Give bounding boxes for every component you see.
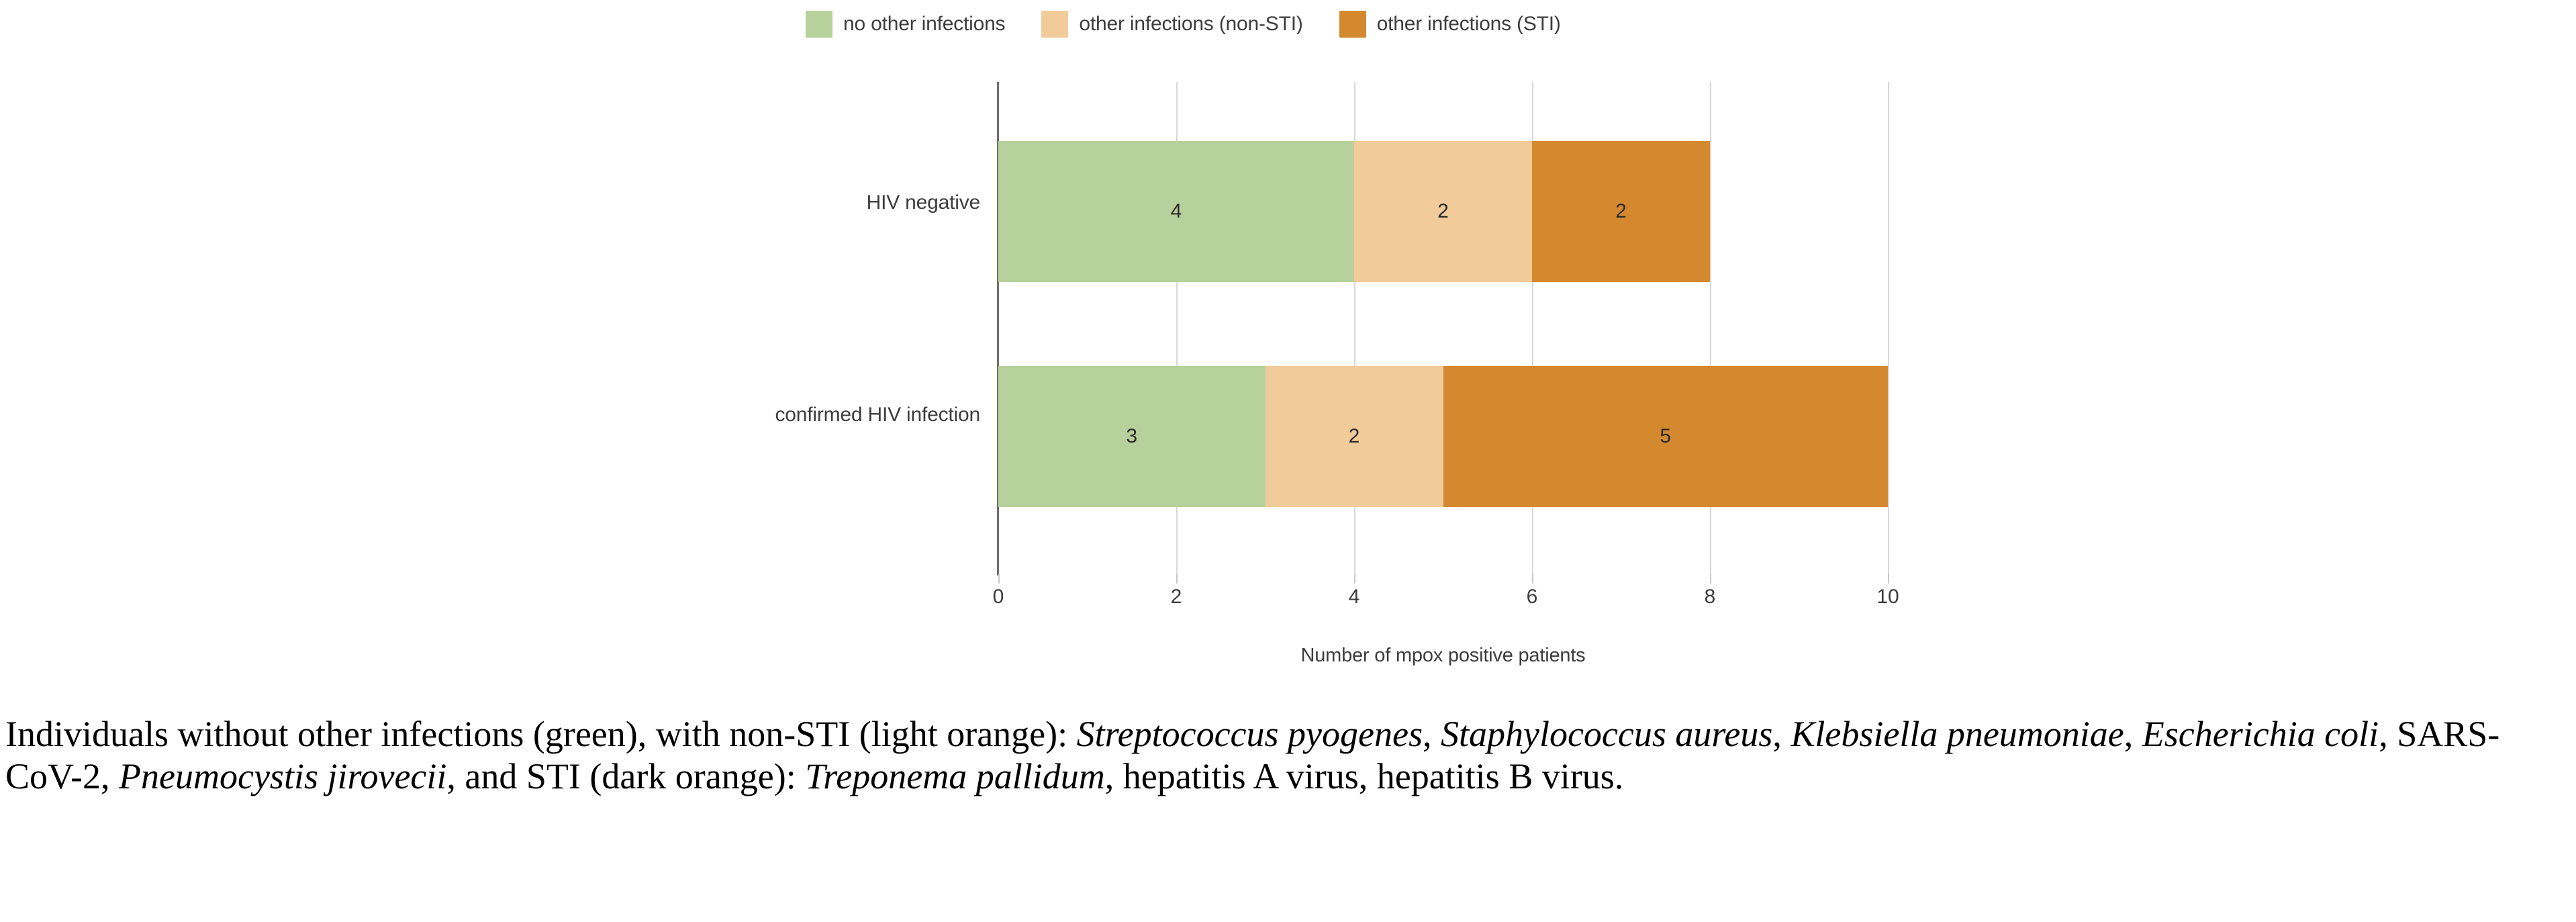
x-tick-label-8: 8 [1670, 586, 1750, 608]
legend-swatch-no-other-infections-icon [806, 11, 832, 38]
x-tick-label-2: 2 [1136, 586, 1217, 608]
plot-area: 422325 [998, 82, 1888, 574]
bar-value-label: 4 [1171, 201, 1182, 222]
bar-row: 325 [998, 366, 1888, 507]
caption-segment: , [2124, 714, 2142, 754]
bar-value-label: 2 [1615, 201, 1627, 222]
x-tick-label-10: 10 [1848, 586, 1928, 608]
legend-label-other-infections-non-sti: other infections (non-STI) [1079, 13, 1302, 36]
caption-segment: , [1772, 714, 1791, 754]
x-tick-mark-2 [1176, 574, 1178, 584]
bar-segment[interactable]: 2 [1532, 141, 1710, 282]
caption-segment: , and STI (dark orange): [446, 756, 805, 796]
bar-segment[interactable]: 2 [1266, 366, 1443, 507]
bar-value-label: 3 [1126, 426, 1137, 447]
caption-segment: , hepatitis A virus, hepatitis B virus. [1105, 756, 1623, 796]
legend-label-no-other-infections: no other infections [843, 13, 1005, 36]
bar-segment[interactable]: 2 [1354, 141, 1532, 282]
caption-segment: Individuals without other infections (gr… [5, 714, 1077, 754]
caption-segment: , [1423, 714, 1441, 754]
x-tick-label-0: 0 [958, 586, 1039, 608]
caption-segment: Escherichia coli [2142, 714, 2379, 754]
bar-segment[interactable]: 5 [1443, 366, 1889, 507]
y-axis-label-confirmed-hiv-infection: confirmed HIV infection [759, 402, 980, 428]
caption-segment: Treponema pallidum [805, 756, 1105, 796]
bar-row: 422 [998, 141, 1710, 282]
bar-segment[interactable]: 4 [998, 141, 1354, 282]
bar-segment[interactable]: 3 [998, 366, 1266, 507]
legend-swatch-other-infections-sti-icon [1339, 11, 1366, 38]
x-tick-label-6: 6 [1492, 586, 1572, 608]
bar-value-label: 5 [1660, 426, 1671, 447]
legend-item-no-other-infections[interactable]: no other infections [806, 11, 1005, 38]
figure-caption: Individuals without other infections (gr… [5, 713, 2570, 798]
x-tick-mark-10 [1888, 574, 1889, 584]
x-axis-title: Number of mpox positive patients [998, 645, 1888, 667]
chart-figure: no other infections other infections (no… [0, 0, 2576, 708]
caption-segment: Klebsiella pneumoniae [1791, 714, 2124, 754]
x-tick-mark-8 [1710, 574, 1711, 584]
legend-swatch-other-infections-non-sti-icon [1041, 11, 1068, 38]
y-axis-label-hiv-negative: HIV negative [759, 190, 980, 216]
caption-segment: Staphylococcus aureus [1441, 714, 1772, 754]
chart-legend: no other infections other infections (no… [806, 5, 1772, 43]
x-tick-mark-0 [998, 574, 1000, 584]
x-tick-mark-4 [1354, 574, 1355, 584]
caption-segment: Pneumocystis jirovecii [119, 756, 446, 796]
bar-value-label: 2 [1437, 201, 1449, 222]
x-tick-label-4: 4 [1314, 586, 1394, 608]
legend-item-other-infections-non-sti[interactable]: other infections (non-STI) [1041, 11, 1302, 38]
legend-label-other-infections-sti: other infections (STI) [1377, 13, 1561, 36]
x-tick-mark-6 [1532, 574, 1533, 584]
bar-value-label: 2 [1349, 426, 1360, 447]
legend-item-other-infections-sti[interactable]: other infections (STI) [1339, 11, 1561, 38]
caption-segment: Streptococcus pyogenes [1077, 714, 1423, 754]
gridline-10 [1888, 82, 1889, 574]
